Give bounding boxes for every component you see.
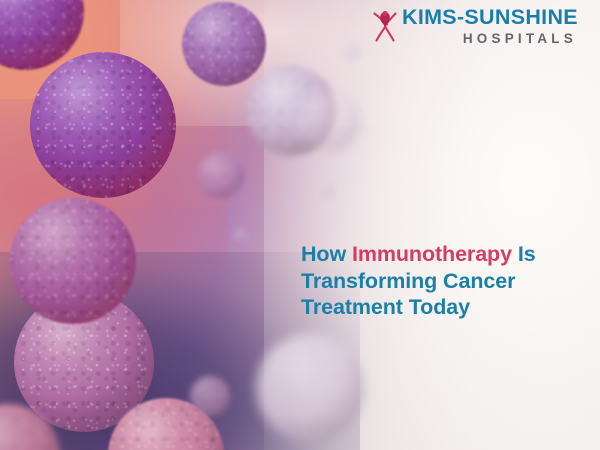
dot-top-right [342, 42, 361, 61]
logo-wordmark: KIMS-SUNSHINE HOSPITALS [402, 7, 578, 45]
headline-accent-word: Immunotherapy [352, 242, 512, 266]
brand-logo: KIMS-SUNSHINE HOSPITALS [372, 7, 578, 45]
virus-lower-left [10, 198, 136, 324]
virus-capsid [10, 198, 136, 324]
headline-part-1: How [301, 242, 352, 266]
virus-capsid [190, 376, 230, 416]
virus-small-lower [190, 376, 230, 416]
virus-capsid [0, 404, 60, 450]
virus-capsid [0, 0, 84, 70]
virus-shading [190, 376, 230, 416]
virus-capsid [256, 334, 364, 442]
headline: How Immunotherapy Is Transforming Cancer… [301, 241, 571, 321]
logo-primary-text: KIMS-SUNSHINE [402, 7, 578, 29]
dot-upper-right [320, 184, 335, 199]
virus-shading [198, 152, 244, 198]
dot-mid-right [234, 228, 247, 241]
virus-shading [256, 334, 364, 442]
virus-small-mid [198, 152, 244, 198]
virus-shading [298, 90, 360, 152]
banner-image: KIMS-SUNSHINE HOSPITALS How Immunotherap… [0, 0, 600, 450]
logo-secondary-text: HOSPITALS [463, 32, 577, 46]
virus-top-left-corner [0, 0, 84, 70]
virus-pale-right [298, 90, 360, 152]
virus-capsid [298, 90, 360, 152]
virus-capsid [198, 152, 244, 198]
virus-pale-lower-mid [256, 334, 364, 442]
virus-shading [10, 198, 136, 324]
kims-sunshine-figure-icon [372, 9, 398, 43]
virus-bottom-left-edge [0, 404, 60, 450]
